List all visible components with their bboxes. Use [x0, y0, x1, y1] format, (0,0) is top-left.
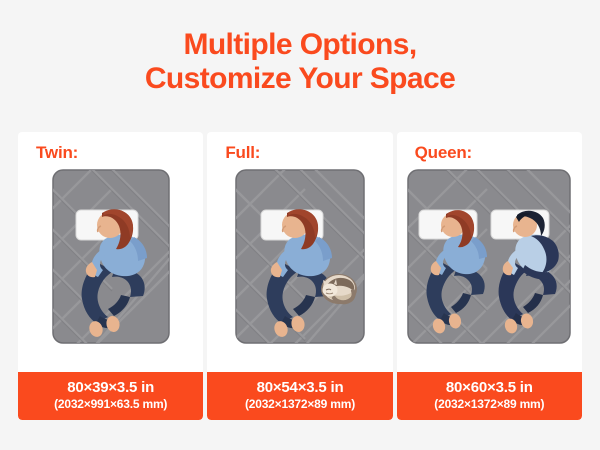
- page-title-line-2: Customize Your Space: [0, 62, 600, 96]
- size-options-list: Twin:: [18, 132, 582, 420]
- dimensions-mm-twin: (2032×991×63.5 mm): [18, 397, 203, 412]
- mattress-illustration-twin: [18, 163, 203, 372]
- mattress-illustration-queen: [397, 163, 582, 372]
- mattress-one-sleeper-icon: [52, 169, 170, 344]
- mattress-one-sleeper-with-cat-icon: [235, 169, 365, 344]
- dimensions-mm-full: (2032×1372×89 mm): [207, 397, 392, 412]
- dimensions-footer-full: 80×54×3.5 in (2032×1372×89 mm): [207, 372, 392, 420]
- sleeping-cat-figure: [321, 274, 357, 304]
- size-option-card-full[interactable]: Full:: [207, 132, 392, 420]
- dimensions-inches-queen: 80×60×3.5 in: [397, 379, 582, 397]
- dimensions-mm-queen: (2032×1372×89 mm): [397, 397, 582, 412]
- mattress-illustration-full: [207, 163, 392, 372]
- dimensions-footer-queen: 80×60×3.5 in (2032×1372×89 mm): [397, 372, 582, 420]
- page-title-line-1: Multiple Options,: [0, 28, 600, 62]
- page-title: Multiple Options, Customize Your Space: [0, 28, 600, 96]
- size-option-card-twin[interactable]: Twin:: [18, 132, 203, 420]
- size-option-card-queen[interactable]: Queen:: [397, 132, 582, 420]
- size-label-full: Full:: [207, 132, 392, 163]
- size-label-twin: Twin:: [18, 132, 203, 163]
- dimensions-footer-twin: 80×39×3.5 in (2032×991×63.5 mm): [18, 372, 203, 420]
- size-label-queen: Queen:: [397, 132, 582, 163]
- dimensions-inches-twin: 80×39×3.5 in: [18, 379, 203, 397]
- dimensions-inches-full: 80×54×3.5 in: [207, 379, 392, 397]
- mattress-two-sleepers-icon: [407, 169, 571, 344]
